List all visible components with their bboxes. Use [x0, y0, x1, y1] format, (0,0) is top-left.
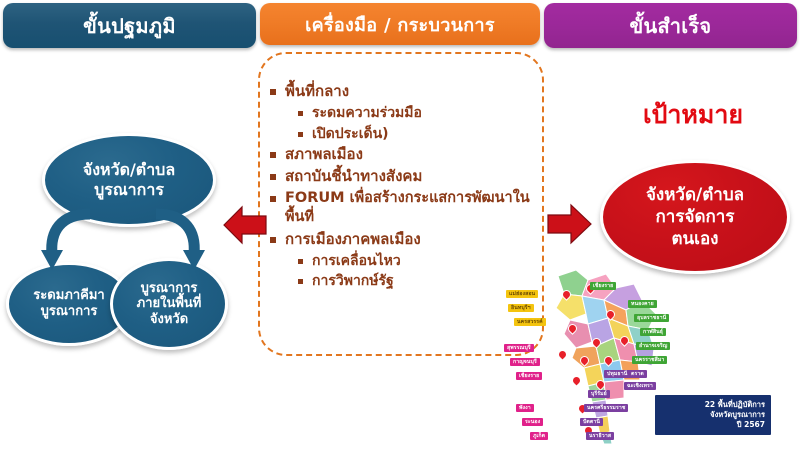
square-bullet-icon [298, 132, 303, 137]
map-label: ฉะเชิงเทรา [624, 382, 656, 390]
square-bullet-icon [298, 111, 303, 116]
map-label: กาฬสินธุ์ [640, 328, 666, 336]
banner-tools-process-label: เครื่องมือ / กระบวนการ [305, 10, 495, 39]
map-badge: 22 พื้นที่ปฏิบัติการ จังหวัดบูรณาการ ปี … [655, 395, 771, 435]
map-label: อุบลราชธานี [634, 314, 669, 322]
list-item-label: พื้นที่กลาง [285, 82, 538, 102]
map-label: เชียงราย [590, 282, 616, 290]
oval-goal-line2: การจัดการ [646, 206, 744, 228]
map-badge-line1: 22 พื้นที่ปฏิบัติการ [659, 400, 765, 410]
banner-tools-process: เครื่องมือ / กระบวนการ [260, 3, 540, 45]
curved-arrow-right-icon [148, 208, 208, 280]
square-bullet-icon [270, 89, 276, 95]
list-item-label: สถาบันชี้นำทางสังคม [285, 167, 538, 187]
oval-sub1-line1: ระดมภาคีมา [33, 288, 104, 304]
map-label: บุรีรัมย์ [588, 390, 610, 398]
list-item-label: การเมืองภาคพลเมือง [285, 230, 538, 250]
map-label: สุพรรณบุรี [504, 344, 534, 352]
list-item: สถาบันชี้นำทางสังคม [270, 167, 538, 187]
oval-sub1-line2: บูรณาการ [33, 304, 104, 320]
tools-process-list: พื้นที่กลาง ระดมความร่วมมือ เปิดประเด็น)… [270, 82, 538, 293]
map-label: แม่ฮ่องสอน [506, 290, 538, 298]
list-item-label: เปิดประเด็น) [312, 125, 538, 144]
goal-title: เป้าหมาย [588, 95, 798, 135]
map-label: เชียงราย [516, 372, 542, 380]
oval-sub2-line2: ภายในพื้นที่ [137, 296, 202, 312]
map-label: กาญจนบุรี [510, 358, 540, 366]
map-label: ตราด [628, 370, 647, 378]
map-badge-line3: ปี 2567 [659, 420, 765, 430]
banner-stage-primary-label: ขั้นปฐมภูมิ [83, 10, 176, 42]
square-bullet-icon [270, 152, 276, 158]
banner-stage-primary: ขั้นปฐมภูมิ [3, 3, 256, 48]
square-bullet-icon [270, 174, 276, 180]
list-item-label: ระดมความร่วมมือ [312, 104, 538, 123]
map-label: นครราชสีมา [632, 356, 667, 364]
list-item-label: FORUM เพื่อสร้างกระแสการพัฒนาในพื้นที่ [285, 189, 538, 228]
map-badge-line2: จังหวัดบูรณาการ [659, 410, 765, 420]
map-label: ระนอง [522, 418, 543, 426]
map-label: อินทบุรีฯ [508, 304, 534, 312]
list-item: ระดมความร่วมมือ [298, 104, 538, 123]
curved-arrow-left-icon [38, 208, 98, 280]
infographic-canvas: ขั้นปฐมภูมิ เครื่องมือ / กระบวนการ ขั้นส… [0, 0, 800, 450]
square-bullet-icon [270, 237, 276, 243]
thailand-map-block: แม่ฮ่องสอน อินทบุรีฯ นครสวรรค์ สุพรรณบุร… [500, 252, 800, 450]
list-item: การเมืองภาคพลเมือง [270, 230, 538, 250]
list-item-label: สภาพลเมือง [285, 145, 538, 165]
square-bullet-icon [298, 259, 303, 264]
map-label: ปทุมธานี [604, 370, 630, 378]
list-item: เปิดประเด็น) [298, 125, 538, 144]
map-label: หนองคาย [628, 300, 657, 308]
oval-sub2-line3: จังหวัด [137, 312, 202, 328]
map-label: พังงา [516, 404, 534, 412]
oval-main-line2: บูรณาการ [83, 180, 175, 200]
map-label: นครสวรรค์ [514, 318, 546, 326]
map-label: นครศรีธรรมราช [584, 404, 628, 412]
map-label: ปัตตานี [580, 418, 603, 426]
oval-goal-line3: ตนเอง [646, 228, 744, 250]
oval-sub2-line1: บูรณาการ [137, 281, 202, 297]
banner-stage-success: ขั้นสำเร็จ [544, 3, 797, 48]
oval-goal-line1: จังหวัด/ตำบล [646, 184, 744, 206]
square-bullet-icon [298, 279, 303, 284]
banner-stage-success-label: ขั้นสำเร็จ [630, 10, 712, 42]
map-label: อำนาจเจริญ [636, 342, 670, 350]
arrow-right-icon [545, 200, 595, 248]
arrow-left-icon [222, 202, 268, 248]
map-label: ภูเก็ต [530, 432, 548, 440]
list-item: FORUM เพื่อสร้างกระแสการพัฒนาในพื้นที่ [270, 189, 538, 228]
list-item: สภาพลเมือง [270, 145, 538, 165]
list-item: พื้นที่กลาง [270, 82, 538, 102]
map-label: นราธิวาส [586, 432, 614, 440]
square-bullet-icon [270, 196, 276, 202]
oval-main-line1: จังหวัด/ตำบล [83, 160, 175, 180]
